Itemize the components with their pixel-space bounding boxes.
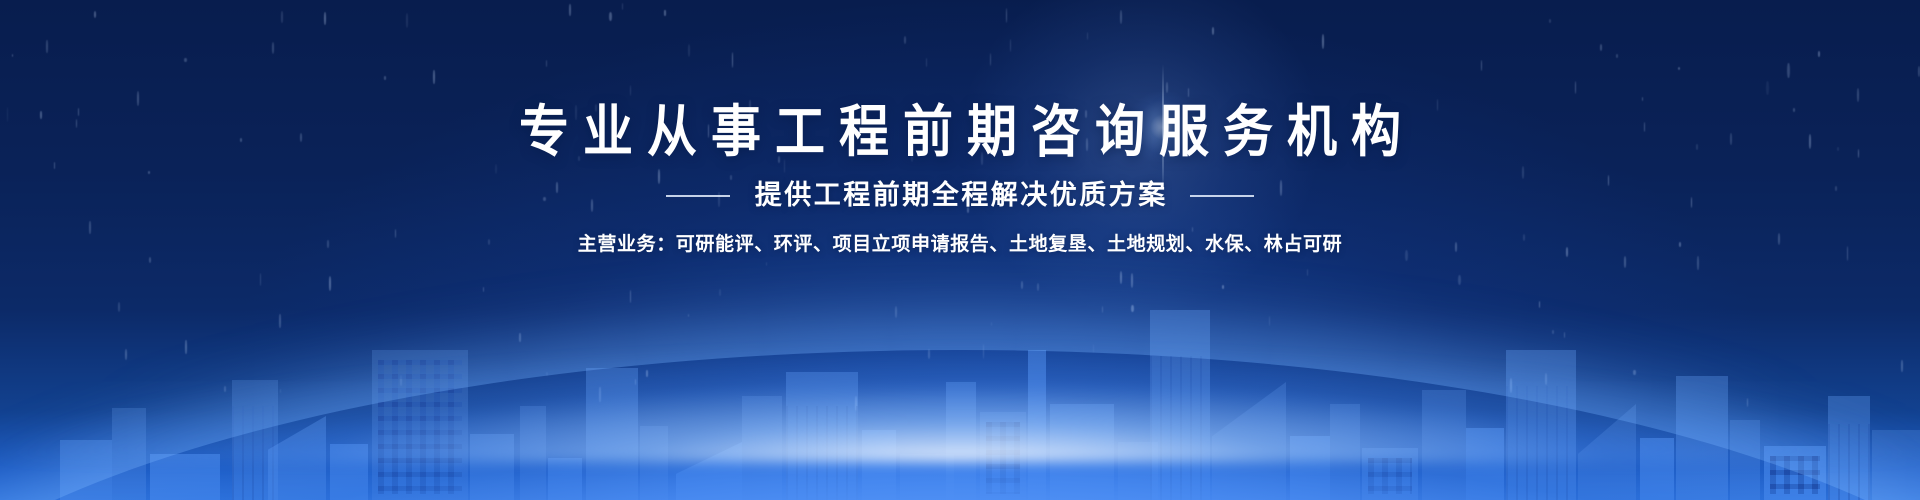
building-stripes xyxy=(1506,386,1576,500)
particle-dot xyxy=(546,372,548,376)
particle-dot xyxy=(635,379,636,384)
particle-dot xyxy=(630,290,632,303)
building-silhouette xyxy=(150,454,220,500)
banner-copy: 专业从事工程前期咨询服务机构 提供工程前期全程解决优质方案 主营业务：可研能评、… xyxy=(0,104,1920,254)
building-silhouette xyxy=(1028,350,1046,500)
building-stripes xyxy=(1828,424,1870,500)
building-silhouette xyxy=(1730,420,1760,500)
particle-dot xyxy=(1564,332,1565,338)
rule-left-icon xyxy=(666,195,730,197)
building-silhouette xyxy=(1150,310,1210,500)
building-silhouette xyxy=(946,382,976,500)
particle-dot xyxy=(1539,301,1540,308)
building-silhouette xyxy=(372,350,468,500)
particle-dot xyxy=(1120,271,1122,285)
particle-dot xyxy=(125,349,127,360)
particle-dot xyxy=(1552,330,1554,335)
particle-dot xyxy=(1458,275,1460,285)
building-silhouette xyxy=(1118,442,1158,500)
building-window-grid xyxy=(986,422,1020,494)
building-silhouette xyxy=(232,380,278,500)
building-silhouette xyxy=(268,416,326,500)
particle-dot xyxy=(12,54,13,57)
hero-banner: 专业从事工程前期咨询服务机构 提供工程前期全程解决优质方案 主营业务：可研能评、… xyxy=(0,0,1920,500)
particle-dot xyxy=(546,60,547,67)
particle-dot xyxy=(990,53,991,66)
building-silhouette xyxy=(862,430,896,500)
particle-dot xyxy=(1120,10,1122,24)
building-silhouette xyxy=(548,458,582,500)
particle-dot xyxy=(630,85,631,97)
particle-dot xyxy=(688,314,689,318)
particle-dot xyxy=(1481,60,1483,71)
building-silhouette xyxy=(520,406,546,500)
particle-dot xyxy=(329,276,331,291)
building-silhouette xyxy=(1422,390,1466,500)
particle-dot xyxy=(1633,370,1636,375)
particle-dot xyxy=(400,375,402,386)
particle-dot xyxy=(766,262,767,266)
building-silhouette xyxy=(112,408,146,500)
particle-dot xyxy=(895,306,897,318)
particle-dot xyxy=(1307,269,1308,276)
particle-dot xyxy=(1131,305,1134,312)
particle-dot xyxy=(646,370,647,378)
particle-dot xyxy=(1010,39,1011,52)
particle-dot xyxy=(1188,88,1190,96)
particle-dot xyxy=(118,302,121,313)
particle-dot xyxy=(279,314,281,329)
particle-dot xyxy=(1222,285,1224,289)
particle-dot xyxy=(1037,283,1039,291)
particle-dot xyxy=(46,40,48,53)
particle-dot xyxy=(622,3,623,10)
particle-dot xyxy=(1006,8,1007,23)
particle-dot xyxy=(1131,273,1134,288)
building-silhouette xyxy=(742,396,782,500)
building-silhouette xyxy=(1290,436,1330,500)
particle-dot xyxy=(1766,81,1768,94)
building-silhouette xyxy=(1330,404,1360,500)
particle-dot xyxy=(983,344,984,359)
building-silhouette xyxy=(470,434,514,500)
banner-subtitle: 提供工程前期全程解决优质方案 xyxy=(752,182,1168,209)
particle-dot xyxy=(184,58,186,62)
building-silhouette xyxy=(1676,376,1728,500)
building-silhouette xyxy=(330,444,368,500)
particle-dot xyxy=(1857,88,1859,102)
particle-dot xyxy=(1600,44,1603,51)
particle-dot xyxy=(1093,344,1095,354)
building-window-grid xyxy=(378,360,462,494)
building-silhouette xyxy=(900,454,954,500)
particle-dot xyxy=(94,11,96,19)
page-title: 专业从事工程前期咨询服务机构 xyxy=(0,104,1920,160)
building-silhouette xyxy=(980,412,1026,500)
particle-dot xyxy=(185,340,187,354)
horizon-glow-line xyxy=(0,312,1920,462)
particle-dot xyxy=(1818,51,1820,57)
particle-dot xyxy=(1697,256,1699,270)
particle-dot xyxy=(855,396,857,411)
building-stripes xyxy=(786,406,858,500)
particle-dot xyxy=(1166,82,1168,93)
particle-dot xyxy=(688,44,690,57)
building-silhouette xyxy=(676,442,742,500)
building-silhouette xyxy=(1640,438,1674,500)
particle-dot xyxy=(280,389,281,393)
particle-dot xyxy=(1021,281,1023,289)
particle-dot xyxy=(1616,54,1618,57)
building-silhouette xyxy=(1828,396,1870,500)
particle-dot xyxy=(1747,398,1748,407)
building-window-grid xyxy=(1368,458,1412,494)
building-window-grid xyxy=(1770,456,1820,494)
particle-dot xyxy=(1901,360,1903,372)
building-silhouette xyxy=(1050,404,1114,500)
building-stripes xyxy=(232,406,278,500)
particle-dot xyxy=(719,289,721,296)
particle-dot xyxy=(224,386,226,392)
particle-dot xyxy=(991,322,993,326)
particle-dot xyxy=(1212,27,1214,34)
particle-dot xyxy=(1624,256,1627,268)
particle-dot xyxy=(433,70,435,84)
particle-dot xyxy=(664,10,665,15)
services-list-text: 主营业务：可研能评、环评、项目立项申请报告、土地复垦、土地规划、水保、林占可研 xyxy=(0,235,1920,254)
building-silhouette xyxy=(1362,448,1418,500)
building-silhouette xyxy=(586,368,638,500)
particle-dot xyxy=(406,13,409,27)
particle-dot xyxy=(1269,316,1270,326)
particle-dot xyxy=(1642,97,1643,101)
city-skyline-silhouette xyxy=(0,270,1920,500)
particle-dot xyxy=(599,387,600,402)
building-silhouette xyxy=(60,440,112,500)
particle-dot xyxy=(384,76,386,81)
particle-dot xyxy=(1787,63,1790,79)
building-silhouette xyxy=(1872,430,1920,500)
building-silhouette xyxy=(1506,350,1576,500)
particle-dot xyxy=(281,11,283,23)
particle-dot xyxy=(519,333,520,342)
particle-dot xyxy=(1575,81,1576,94)
building-silhouette xyxy=(1764,446,1826,500)
rule-right-icon xyxy=(1190,195,1254,197)
particle-dot xyxy=(1102,306,1103,313)
particle-dot xyxy=(569,4,571,16)
subtitle-row: 提供工程前期全程解决优质方案 xyxy=(0,182,1920,209)
building-silhouette xyxy=(786,372,858,500)
building-silhouette xyxy=(1212,382,1286,500)
building-silhouette xyxy=(640,426,668,500)
particle-dot xyxy=(928,349,930,359)
building-silhouette xyxy=(1578,404,1636,500)
particle-dot xyxy=(483,287,485,293)
particle-dot xyxy=(732,52,733,68)
particle-dot xyxy=(1545,373,1547,386)
building-silhouette xyxy=(1466,428,1504,500)
particle-dot xyxy=(904,36,906,44)
particle-dot xyxy=(260,273,262,286)
building-stripes xyxy=(1150,356,1210,500)
particle-dot xyxy=(1322,34,1324,49)
particle-dot xyxy=(926,58,928,67)
particle-dot xyxy=(149,257,151,263)
particle-dot xyxy=(1087,32,1088,40)
particle-dot xyxy=(1678,67,1680,70)
particle-dot xyxy=(272,42,274,55)
particle-dot xyxy=(324,12,326,25)
particle-dot xyxy=(1510,378,1513,394)
particle-dot xyxy=(1549,19,1551,23)
particle-dot xyxy=(609,12,612,21)
glowing-horizon-arc xyxy=(0,350,1920,500)
